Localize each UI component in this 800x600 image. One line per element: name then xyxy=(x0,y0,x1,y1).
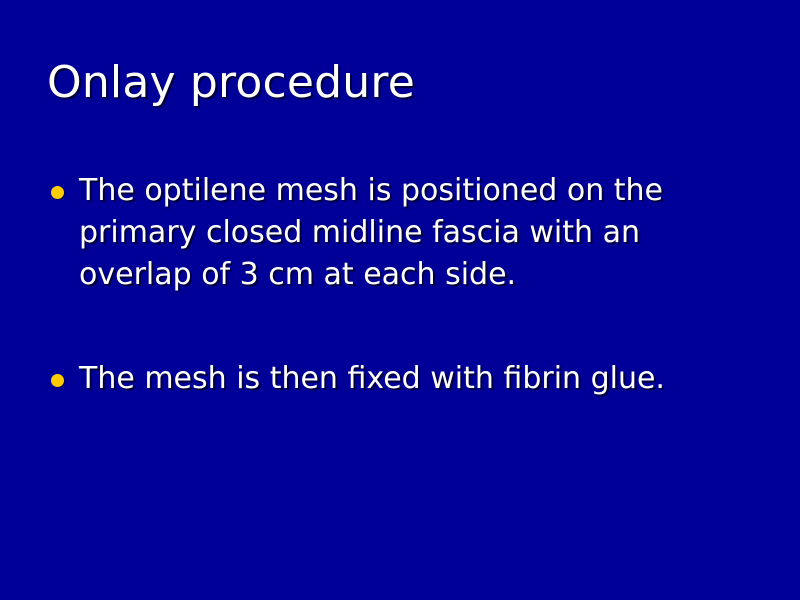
slide-title: Onlay procedure xyxy=(47,57,753,109)
list-item: The optilene mesh is positioned on the p… xyxy=(47,170,747,296)
bullet-text: The mesh is then fixed with fibrin glue. xyxy=(79,358,747,400)
slide-bullet-list: The optilene mesh is positioned on the p… xyxy=(47,170,747,400)
bullet-dot-icon xyxy=(51,374,64,387)
bullet-dot-icon xyxy=(51,186,64,199)
list-item: The mesh is then fixed with fibrin glue. xyxy=(47,358,747,400)
bullet-text: The optilene mesh is positioned on the p… xyxy=(79,170,747,296)
presentation-slide: Onlay procedure The optilene mesh is pos… xyxy=(0,0,800,600)
